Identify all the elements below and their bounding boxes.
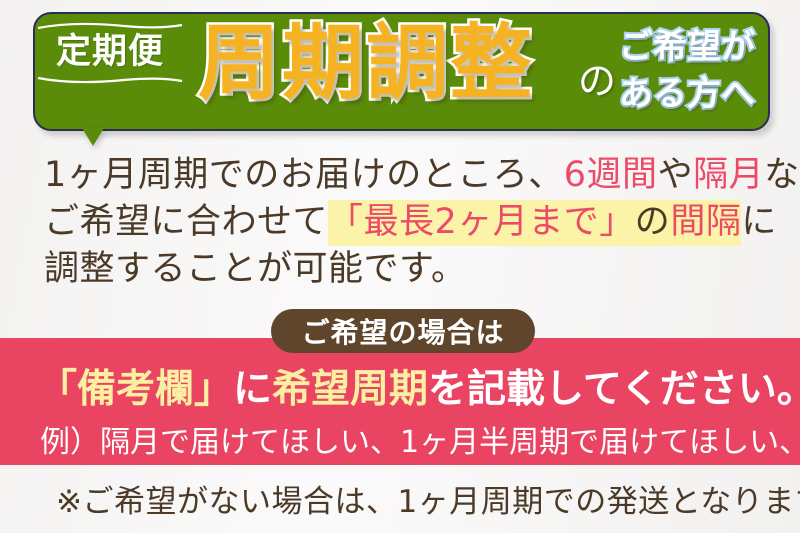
body-line1-pre: 1ヶ月周期でのお届けのところ、: [44, 155, 564, 195]
body-line1-post: など: [764, 155, 800, 195]
promotional-banner: 定期便 周期調整 の ご希望が ある方へ 1ヶ月周期でのお届けのところ、6週間や…: [0, 0, 800, 533]
pink-headline-post: を記載してください。: [428, 367, 800, 412]
wish-callout-line1: ご希望が: [612, 24, 762, 71]
pink-headline-emphasis-remarks-field: 「備考欄」: [38, 367, 233, 412]
subscription-label-text: 定期便: [34, 31, 186, 75]
body-line2-pre: ご希望に合わせて: [44, 202, 328, 242]
pink-band-example-text: 例）隔月で届けてほしい、1ヶ月半周期で届けてほしい、など: [40, 424, 770, 462]
main-title: 周期調整: [198, 14, 534, 114]
body-line2-highlight-mid: の: [635, 200, 671, 246]
body-line1-emphasis-every-other-month: 隔月: [693, 155, 764, 195]
speech-bubble-tail-icon: [82, 128, 104, 146]
pink-band-headline: 「備考欄」に希望周期を記載してください。: [38, 367, 768, 413]
wave-rule-top-icon: [34, 22, 186, 31]
subscription-label-block: 定期便: [34, 22, 186, 84]
body-line1-emphasis-six-weeks: 6週間: [564, 155, 658, 195]
body-line-3: 調整することが可能です。: [44, 246, 760, 293]
wave-rule-bottom-icon: [34, 75, 186, 84]
footer-note: ※ご希望がない場合は、1ヶ月周期での発送となります。: [56, 481, 776, 523]
title-particle: の: [578, 62, 616, 100]
pink-headline-mid: に: [233, 367, 272, 412]
wish-callout-block: ご希望が ある方へ: [612, 24, 762, 118]
body-paragraph: 1ヶ月周期でのお届けのところ、6週間や隔月など ご希望に合わせて「最長2ヶ月まで…: [44, 152, 760, 293]
wish-callout-line2: ある方へ: [612, 71, 762, 118]
body-line2-highlight-max-two-months: 「最長2ヶ月まで」: [328, 200, 635, 246]
status-badge: ご希望の場合は: [271, 309, 535, 353]
body-line-1: 1ヶ月周期でのお届けのところ、6週間や隔月など: [44, 152, 760, 199]
pink-headline-emphasis-desired-cycle: 希望周期: [272, 367, 428, 412]
body-line2-post: に: [741, 202, 777, 242]
body-line2-highlight-interval: 間隔: [670, 200, 741, 246]
body-line-2: ご希望に合わせて「最長2ヶ月まで」の間隔に: [44, 199, 760, 246]
body-line1-mid: や: [658, 155, 694, 195]
